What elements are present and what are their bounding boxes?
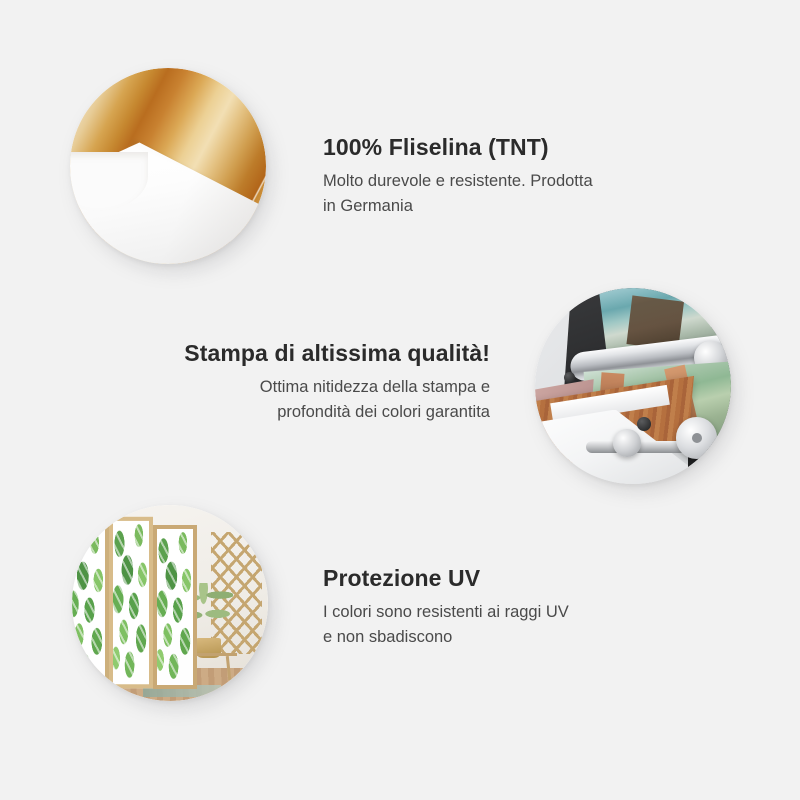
tropical-leaf-pattern [157, 529, 193, 686]
divider-panel-3 [153, 525, 197, 690]
press-wheel-small [613, 429, 640, 456]
feature-title-protezione-uv: Protezione UV [323, 565, 569, 591]
medallion-2-inner [535, 288, 731, 484]
feature-description-line-2: e non sbadiscono [323, 628, 452, 646]
feature-text-fliselina: 100% Fliselina (TNT) Molto durevole e re… [323, 134, 593, 219]
divider-panel-1 [72, 525, 109, 690]
tropical-leaf-pattern [72, 529, 105, 686]
feature-title-stampa-qualita: Stampa di altissima qualità! [150, 340, 490, 366]
feature-description-line-2: profondità dei colori garantita [277, 403, 490, 421]
feature-description-fliselina: Molto durevole e resistente. Prodotta in… [323, 169, 593, 219]
folding-room-divider [72, 525, 197, 690]
feature-text-stampa-qualita: Stampa di altissima qualità! Ottima niti… [150, 340, 490, 425]
feature-description-line-1: Molto durevole e resistente. Prodotta [323, 172, 593, 190]
feature-title-fliselina: 100% Fliselina (TNT) [323, 134, 593, 160]
divider-panel-2 [109, 516, 153, 687]
feature-description-line-1: I colori sono resistenti ai raggi UV [323, 603, 569, 621]
tropical-room-divider-image [72, 505, 268, 701]
press-knob [637, 417, 651, 431]
press-wheel-large [676, 417, 717, 458]
feature-panel: 100% Fliselina (TNT) Molto durevole e re… [0, 0, 800, 800]
feature-description-stampa-qualita: Ottima nitidezza della stampa e profondi… [150, 375, 490, 425]
medallion-1-inner [70, 68, 266, 264]
printing-press-machine-image [535, 288, 731, 484]
feature-description-protezione-uv: I colori sono resistenti ai raggi UV e n… [323, 600, 569, 650]
medallion-3-inner [72, 505, 268, 701]
tropical-leaf-pattern [113, 521, 149, 684]
feature-text-protezione-uv: Protezione UV I colori sono resistenti a… [323, 565, 569, 650]
wallpaper-roll-peeling-corner-image [70, 68, 266, 264]
feature-description-line-2: in Germania [323, 197, 413, 215]
feature-description-line-1: Ottima nitidezza della stampa e [260, 378, 490, 396]
